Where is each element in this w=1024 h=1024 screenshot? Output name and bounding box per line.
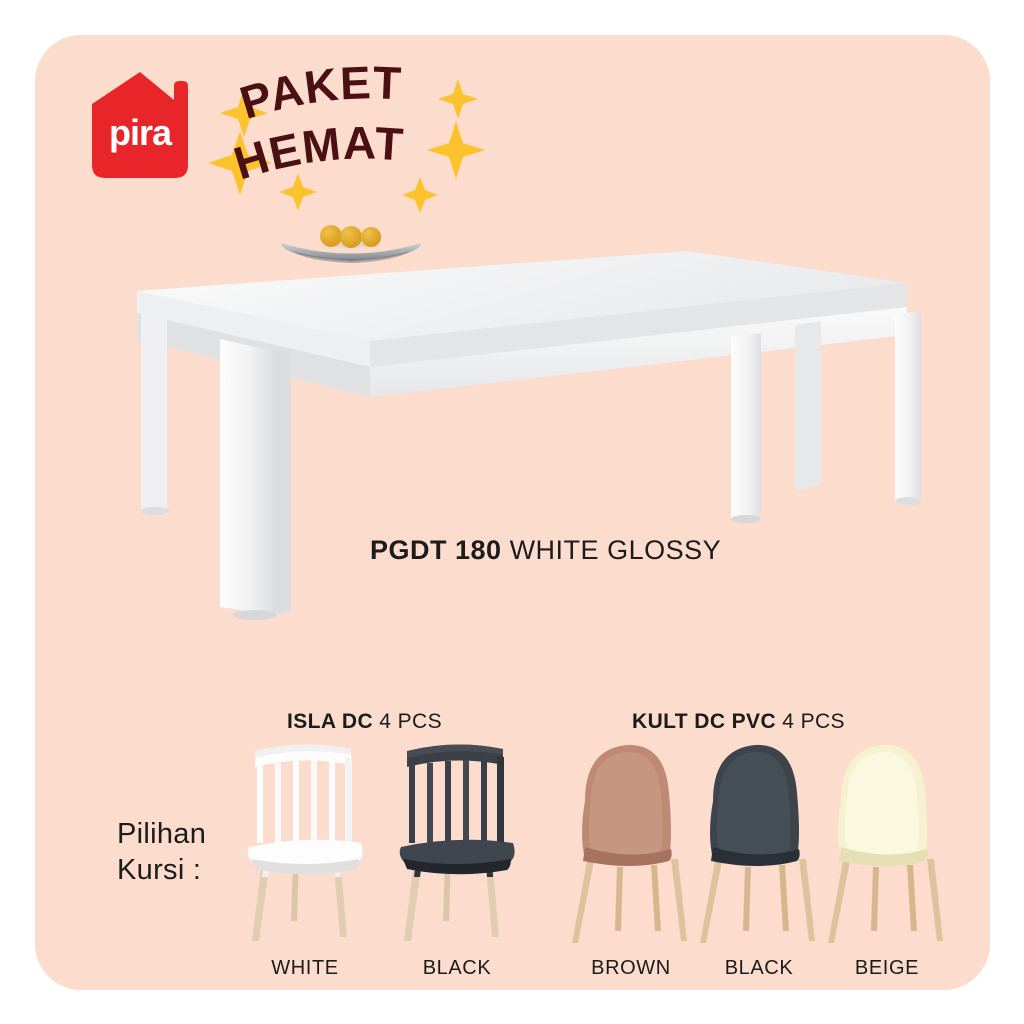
- table-leg-right: [895, 311, 921, 503]
- fruit-bowl-decor: [281, 225, 421, 263]
- table-leg-back-right: [795, 321, 821, 491]
- pira-logo-text: pira: [90, 70, 190, 180]
- dining-table-art: [95, 215, 925, 685]
- chair-option-white[interactable]: [235, 735, 375, 950]
- shell-chair-icon: [689, 735, 829, 950]
- chair-shell: [838, 745, 928, 866]
- windsor-chair-icon: [235, 735, 375, 950]
- shell-chair-icon: [561, 735, 701, 950]
- table-product-code: PGDT 180: [370, 535, 502, 565]
- table-leg-front-left: [220, 339, 273, 615]
- table-leg-middle: [731, 333, 761, 520]
- chair-group-heading-isla: ISLA DC 4 PCS: [287, 710, 442, 734]
- promo-banner: pira PAKET: [0, 0, 1024, 1024]
- fruit-icon: [340, 226, 362, 248]
- four-point-star-icon: [279, 173, 317, 211]
- chair-back: [255, 744, 352, 845]
- chair-shell: [710, 745, 800, 866]
- chair-choice-label-line2: Kursi :: [117, 852, 206, 888]
- chair-label-white: WHITE: [235, 957, 375, 980]
- chair-label-isla-black: BLACK: [387, 957, 527, 980]
- chair-option-brown[interactable]: [561, 735, 701, 950]
- chair-option-isla-black[interactable]: [387, 735, 527, 950]
- chair-label-beige: BEIGE: [817, 957, 957, 980]
- chair-legs: [700, 859, 815, 943]
- chair-choice-label-line1: Pilihan: [117, 816, 206, 852]
- four-point-star-icon: [402, 177, 438, 213]
- shell-chair-icon: [817, 735, 957, 950]
- chair-choice-label: Pilihan Kursi :: [117, 816, 206, 888]
- table-foot: [141, 507, 169, 515]
- pira-logo[interactable]: pira: [90, 70, 190, 180]
- chair-seat: [248, 840, 363, 874]
- table-leg-back-left: [141, 313, 167, 515]
- chair-shell: [582, 745, 672, 866]
- chair-option-beige[interactable]: [817, 735, 957, 950]
- chair-legs: [828, 859, 943, 943]
- fruit-icon: [320, 225, 342, 247]
- table-product-caption: PGDT 180 WHITE GLOSSY: [370, 535, 721, 566]
- four-point-star-icon: [427, 121, 485, 179]
- chair-label-kult-black: BLACK: [689, 957, 829, 980]
- promo-card: pira PAKET: [35, 35, 990, 990]
- table-foot: [731, 515, 761, 523]
- table-foot: [233, 610, 277, 620]
- chair-label-brown: BROWN: [561, 957, 701, 980]
- table-leg-front-left-side: [273, 348, 291, 615]
- table-product-finish: WHITE GLOSSY: [510, 535, 722, 565]
- chair-seat: [400, 840, 515, 874]
- chair-option-kult-black[interactable]: [689, 735, 829, 950]
- windsor-chair-icon: [387, 735, 527, 950]
- promo-headline: PAKET HEMAT: [220, 55, 480, 200]
- promo-headline-art: PAKET HEMAT: [220, 55, 480, 200]
- dining-table-image: [95, 215, 925, 685]
- chair-group-qty: 4 PCS: [782, 710, 845, 733]
- chair-back: [407, 744, 504, 845]
- chair-group-qty: 4 PCS: [379, 710, 442, 733]
- chair-group-name: KULT DC PVC: [632, 710, 776, 733]
- promo-line-2: HEMAT: [228, 117, 406, 190]
- table-foot: [895, 497, 921, 505]
- chair-legs: [572, 859, 687, 943]
- chair-group-heading-kult: KULT DC PVC 4 PCS: [632, 710, 845, 734]
- fruit-icon: [361, 227, 381, 247]
- chair-group-name: ISLA DC: [287, 710, 373, 733]
- four-point-star-icon: [438, 79, 478, 119]
